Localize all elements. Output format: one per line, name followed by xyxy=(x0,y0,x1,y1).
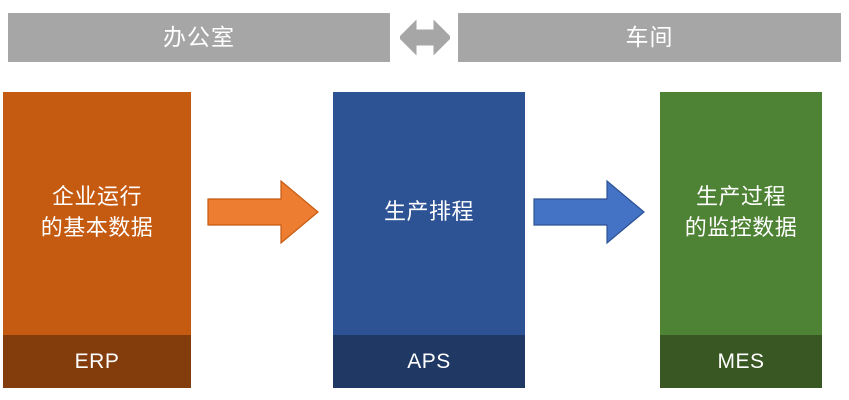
system-description-line: 的监控数据 xyxy=(685,213,798,243)
flow-arrow-aps-to-mes xyxy=(533,178,645,246)
zone-bar-workshop: 车间 xyxy=(458,13,841,62)
system-name-aps: APS xyxy=(333,335,525,388)
system-description-line: 生产过程 xyxy=(685,182,798,212)
zone-bar-office: 办公室 xyxy=(8,13,390,62)
system-description-line: 企业运行 xyxy=(41,182,154,212)
zone-label-workshop: 车间 xyxy=(626,26,674,49)
system-box-aps[interactable]: 生产排程 APS xyxy=(333,92,525,388)
system-name-erp: ERP xyxy=(3,335,191,388)
system-name-label: APS xyxy=(407,350,451,374)
flow-arrow-erp-to-aps xyxy=(207,178,319,246)
system-description-mes: 生产过程 的监控数据 xyxy=(660,92,822,335)
system-name-mes: MES xyxy=(660,335,822,388)
double-headed-arrow-icon xyxy=(400,9,450,66)
system-box-erp[interactable]: 企业运行 的基本数据 ERP xyxy=(3,92,191,388)
system-description-line: 生产排程 xyxy=(384,197,474,227)
system-name-label: MES xyxy=(717,350,764,374)
system-box-mes[interactable]: 生产过程 的监控数据 MES xyxy=(660,92,822,388)
system-description-aps: 生产排程 xyxy=(333,92,525,335)
system-name-label: ERP xyxy=(75,350,120,374)
zone-label-office: 办公室 xyxy=(163,26,235,49)
system-description-erp: 企业运行 的基本数据 xyxy=(3,92,191,335)
system-description-line: 的基本数据 xyxy=(41,213,154,243)
